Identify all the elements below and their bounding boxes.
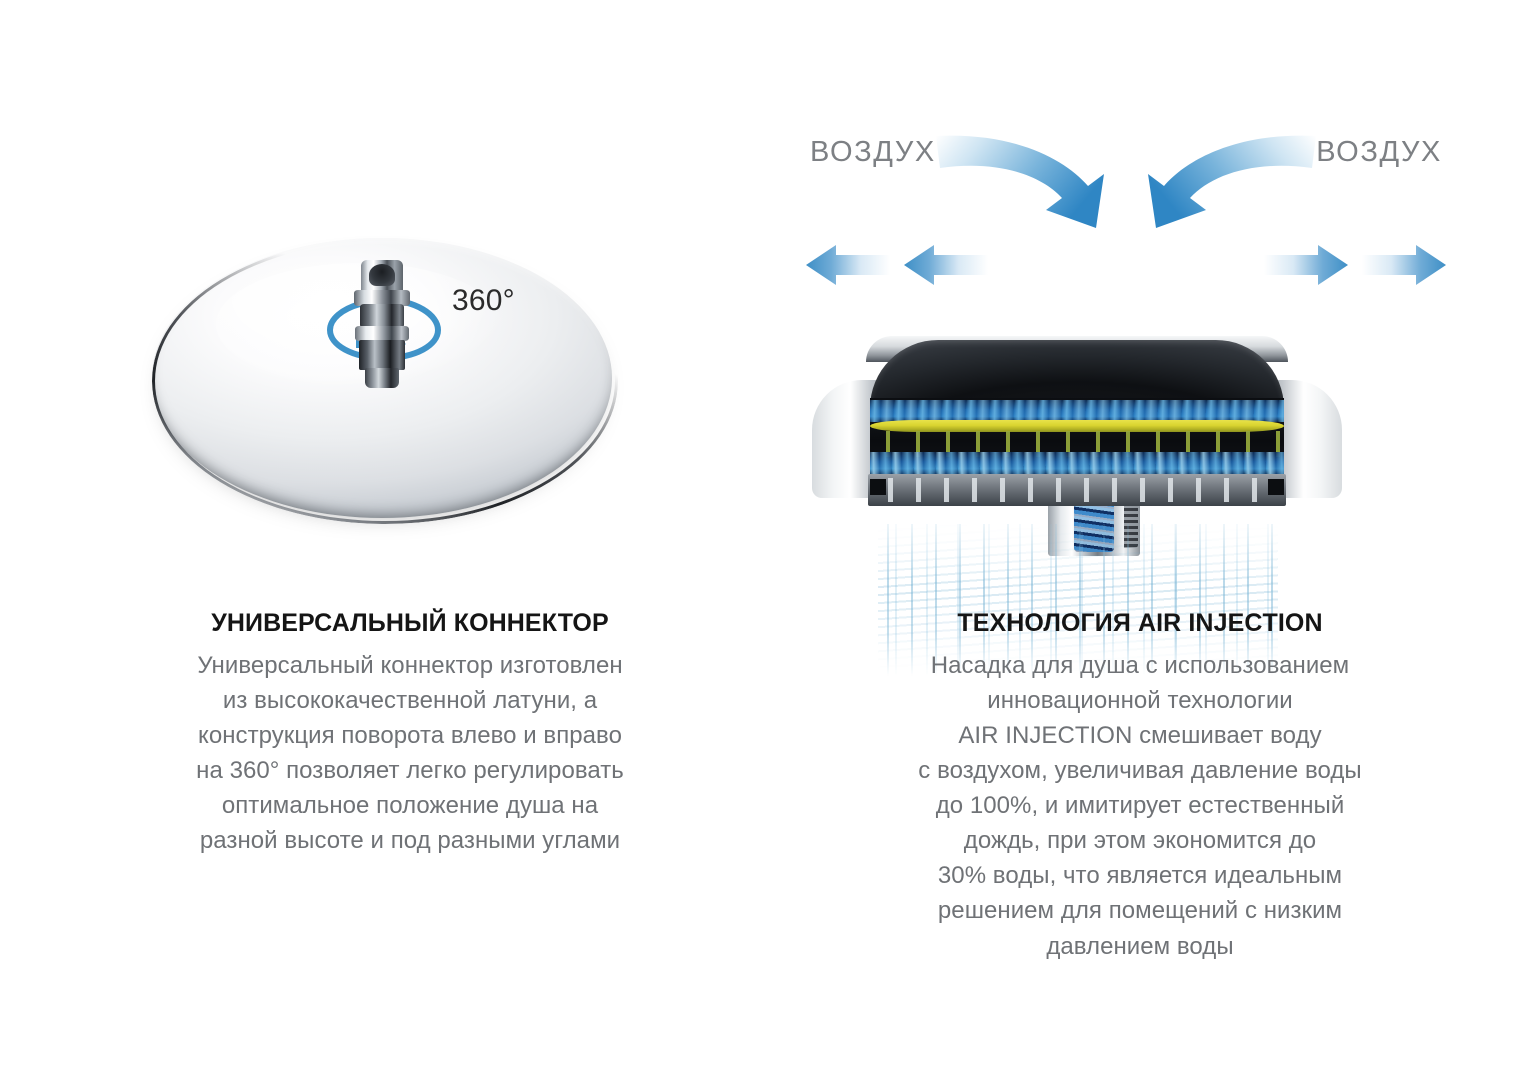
shower-head-body xyxy=(812,336,1342,524)
connector-hex-nut xyxy=(359,340,405,370)
body-line: Насадка для душа с использованием xyxy=(790,648,1490,683)
nozzle-faceplate xyxy=(868,474,1286,506)
caption-universal-connector: УНИВЕРСАЛЬНЫЙ КОННЕКТОР Универсальный ко… xyxy=(60,608,760,858)
body-line: до 100%, и имитирует естественный xyxy=(790,788,1490,823)
connector-base xyxy=(365,368,399,388)
air-injection-assembly: ВОЗДУХ ВОЗДУХ xyxy=(796,124,1456,584)
arrow-right-icon xyxy=(1362,243,1448,287)
shower-disc-assembly: 360° xyxy=(152,238,612,538)
panel-universal-connector: 360° УНИВЕРСАЛЬНЫЙ КОННЕКТОР Универсальн… xyxy=(60,0,760,1080)
body-line: разной высоте и под разными углами xyxy=(60,823,760,858)
body-line: Универсальный коннектор изготовлен xyxy=(60,648,760,683)
body-line: решением для помещений с низким xyxy=(790,893,1490,928)
rotation-degree-label: 360° xyxy=(452,284,515,318)
connector-body xyxy=(360,304,404,328)
body-line: инновационной технологии xyxy=(790,683,1490,718)
connector-bore xyxy=(369,264,395,286)
body-line: с воздухом, увеличивая давление воды xyxy=(790,753,1490,788)
universal-connector-part xyxy=(353,260,411,390)
arrow-left-icon xyxy=(804,243,890,287)
water-chamber-upper xyxy=(870,400,1284,422)
panel-air-injection: ВОЗДУХ ВОЗДУХ xyxy=(790,0,1490,1080)
figure-air-injection-cross-section: ВОЗДУХ ВОЗДУХ xyxy=(790,0,1490,600)
body-line: оптимальное положение душа на xyxy=(60,788,760,823)
air-outflow-arrows-right xyxy=(1264,242,1448,288)
body-line: 30% воды, что является идеальным xyxy=(790,858,1490,893)
arrow-right-icon xyxy=(1264,243,1350,287)
body-line: дождь, при этом экономится до xyxy=(790,823,1490,858)
panel-title-air-injection: ТЕХНОЛОГИЯ AIR INJECTION xyxy=(790,608,1490,639)
air-intake-arrows-icon xyxy=(796,124,1456,324)
caption-air-injection: ТЕХНОЛОГИЯ AIR INJECTION Насадка для душ… xyxy=(790,608,1490,964)
panel-body-universal-connector: Универсальный коннектор изготовлен из вы… xyxy=(60,648,760,858)
infographic-page: 360° УНИВЕРСАЛЬНЫЙ КОННЕКТОР Универсальн… xyxy=(0,0,1532,1080)
air-outflow-arrows-left xyxy=(804,242,988,288)
arrow-left-icon xyxy=(902,243,988,287)
body-line: AIR INJECTION смешивает воду xyxy=(790,718,1490,753)
body-line: конструкция поворота влево и вправо xyxy=(60,718,760,753)
body-line: давлением воды xyxy=(790,929,1490,964)
panel-body-air-injection: Насадка для душа с использованием иннова… xyxy=(790,648,1490,963)
body-line: из высококачественной латуни, а xyxy=(60,683,760,718)
spray-nozzles xyxy=(876,478,1278,502)
water-chamber-lower xyxy=(870,452,1284,476)
figure-shower-head-top-view: 360° xyxy=(60,0,760,600)
panel-title-universal-connector: УНИВЕРСАЛЬНЫЙ КОННЕКТОР xyxy=(60,608,760,639)
head-cutaway-interior xyxy=(870,398,1284,476)
body-line: на 360° позволяет легко регулировать xyxy=(60,753,760,788)
connector-ring-lower xyxy=(355,326,409,341)
